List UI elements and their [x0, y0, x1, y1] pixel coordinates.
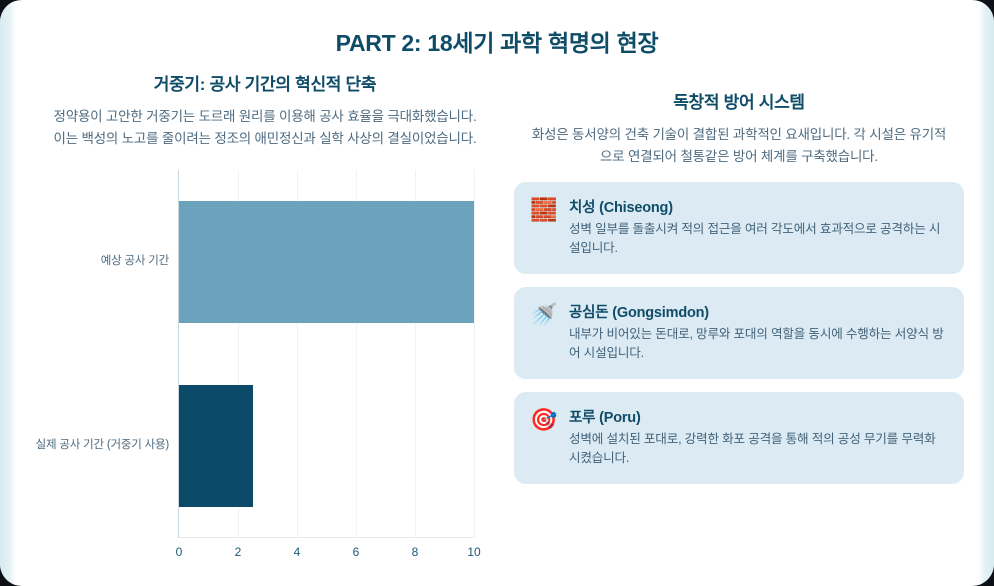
chart-x-tick-label: 10: [467, 545, 480, 559]
left-section-description: 정약용이 고안한 거중기는 도르래 원리를 이용해 공사 효율을 극대화했습니다…: [30, 106, 500, 150]
card-title: 포루 (Poru): [569, 406, 946, 427]
chart-x-tick-label: 6: [353, 545, 360, 559]
two-column-layout: 거중기: 공사 기간의 혁신적 단축 정약용이 고안한 거중기는 도르래 원리를…: [30, 70, 964, 574]
defense-feature-card[interactable]: 🎯포루 (Poru)성벽에 설치된 포대로, 강력한 화포 공격을 통해 적의 …: [514, 392, 964, 484]
chart-bar: [179, 385, 253, 507]
chart-category-label: 실제 공사 기간 (거중기 사용): [31, 438, 169, 454]
card-description: 성벽 일부를 돌출시켜 적의 접근을 여러 각도에서 효과적으로 공격하는 시설…: [569, 220, 946, 259]
card-body: 치성 (Chiseong)성벽 일부를 돌출시켜 적의 접근을 여러 각도에서 …: [569, 196, 946, 259]
chart-bar: [179, 201, 474, 323]
construction-duration-chart: 예상 공사 기간실제 공사 기간 (거중기 사용)0246810: [30, 164, 500, 574]
left-section-heading: 거중기: 공사 기간의 혁신적 단축: [30, 70, 500, 95]
left-column: 거중기: 공사 기간의 혁신적 단축 정약용이 고안한 거중기는 도르래 원리를…: [30, 70, 500, 574]
right-column: 독창적 방어 시스템 화성은 동서양의 건축 기술이 결합된 과학적인 요새입니…: [514, 70, 964, 574]
defense-feature-card[interactable]: 🧱치성 (Chiseong)성벽 일부를 돌출시켜 적의 접근을 여러 각도에서…: [514, 182, 964, 274]
card-description: 내부가 비어있는 돈대로, 망루와 포대의 역할을 동시에 수행하는 서양식 방…: [569, 325, 946, 364]
card-description: 성벽에 설치된 포대로, 강력한 화포 공격을 통해 적의 공성 무기를 무력화…: [569, 430, 946, 469]
chart-gridline: [474, 170, 475, 538]
target-dart-icon: 🎯: [530, 409, 556, 431]
defense-feature-card-list: 🧱치성 (Chiseong)성벽 일부를 돌출시켜 적의 접근을 여러 각도에서…: [514, 182, 964, 484]
slide-content: PART 2: 18세기 과학 혁명의 현장 거중기: 공사 기간의 혁신적 단…: [0, 0, 994, 586]
chart-category-label: 예상 공사 기간: [31, 254, 169, 270]
chart-x-axis-baseline: [179, 537, 474, 538]
slide-frame: PART 2: 18세기 과학 혁명의 현장 거중기: 공사 기간의 혁신적 단…: [0, 0, 994, 586]
chart-x-tick-label: 4: [294, 545, 301, 559]
card-title: 치성 (Chiseong): [569, 196, 946, 217]
card-title: 공심돈 (Gongsimdon): [569, 301, 946, 322]
chart-x-tick-label: 8: [412, 545, 419, 559]
page-title: PART 2: 18세기 과학 혁명의 현장: [30, 24, 964, 58]
chart-x-tick-label: 0: [176, 545, 183, 559]
gongsimdon-tower-icon: 🚿: [530, 304, 556, 326]
card-body: 공심돈 (Gongsimdon)내부가 비어있는 돈대로, 망루와 포대의 역할…: [569, 301, 946, 364]
chart-plot-area: 예상 공사 기간실제 공사 기간 (거중기 사용)0246810: [178, 170, 474, 538]
right-section-description: 화성은 동서양의 건축 기술이 결합된 과학적인 요새입니다. 각 시설은 유기…: [514, 124, 964, 168]
card-body: 포루 (Poru)성벽에 설치된 포대로, 강력한 화포 공격을 통해 적의 공…: [569, 406, 946, 469]
brick-icon: 🧱: [530, 199, 556, 221]
defense-feature-card[interactable]: 🚿공심돈 (Gongsimdon)내부가 비어있는 돈대로, 망루와 포대의 역…: [514, 287, 964, 379]
right-section-heading: 독창적 방어 시스템: [514, 88, 964, 113]
chart-x-tick-label: 2: [235, 545, 242, 559]
